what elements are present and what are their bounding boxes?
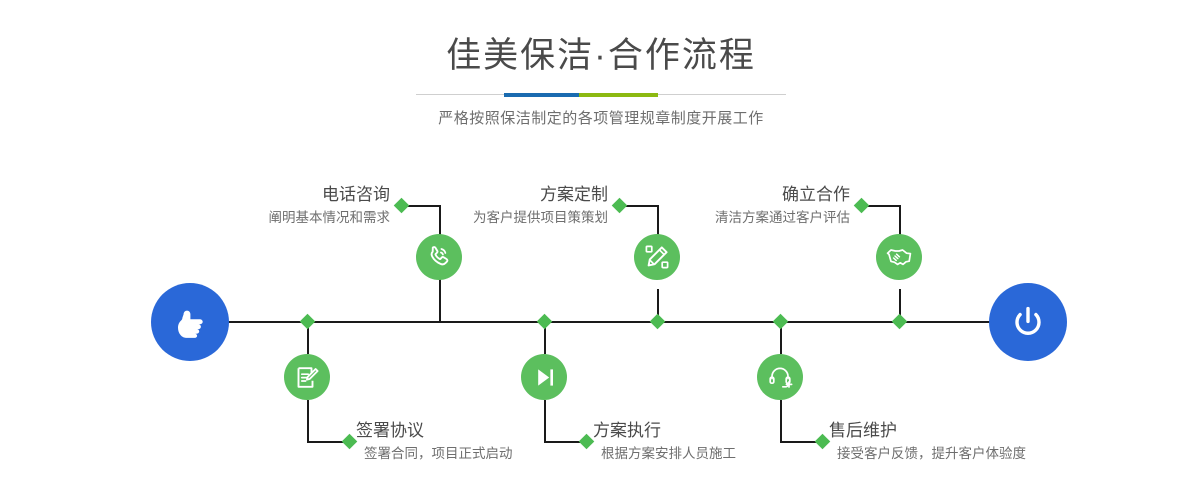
step-label-6: 售后维护 接受客户反馈，提升客户体验度	[829, 420, 1026, 464]
connector-marker-5	[854, 198, 870, 214]
title-divider	[416, 91, 786, 98]
power-icon	[1007, 301, 1049, 343]
step-subtitle-2: 签署合同，项目正式启动	[364, 444, 513, 464]
divider-segment-green	[579, 93, 658, 97]
step-title-6: 售后维护	[829, 420, 1026, 442]
phone-call-icon	[425, 243, 453, 271]
step-title-5: 确立合作	[572, 184, 850, 206]
step-subtitle-3: 为客户提供项目策策划	[330, 208, 608, 228]
connector-stem-1c	[439, 289, 441, 322]
connector-marker-2	[342, 434, 358, 450]
step-subtitle-4: 根据方案安排人员施工	[601, 444, 736, 464]
process-flow-infographic: 佳美保洁·合作流程 严格按照保洁制定的各项管理规章制度开展工作	[0, 0, 1202, 502]
step-title-4: 方案执行	[593, 420, 736, 442]
step-subtitle-6: 接受客户反馈，提升客户体验度	[837, 444, 1026, 464]
step-icon-4	[521, 354, 567, 400]
axis-marker-3	[650, 314, 666, 330]
flow-diagram: 电话咨询 阐明基本情况和需求	[0, 160, 1202, 502]
handshake-icon	[885, 243, 913, 271]
header: 佳美保洁·合作流程 严格按照保洁制定的各项管理规章制度开展工作	[0, 34, 1202, 130]
step-label-3: 方案定制 为客户提供项目策策划	[330, 184, 608, 228]
page-subtitle: 严格按照保洁制定的各项管理规章制度开展工作	[0, 108, 1202, 130]
step-title-2: 签署协议	[356, 420, 513, 442]
headset-support-icon	[767, 364, 794, 391]
axis-marker-6	[773, 314, 789, 330]
pointing-hand-icon	[169, 301, 211, 343]
connector-marker-6	[815, 434, 831, 450]
step-icon-3	[634, 234, 680, 280]
axis-marker-5	[892, 314, 908, 330]
page-title: 佳美保洁·合作流程	[0, 34, 1202, 78]
axis-marker-2	[300, 314, 316, 330]
divider-segment-blue	[504, 93, 579, 97]
step-label-5: 确立合作 清洁方案通过客户评估	[572, 184, 850, 228]
step-label-2: 签署协议 签署合同，项目正式启动	[356, 420, 513, 464]
step-icon-2	[284, 354, 330, 400]
step-subtitle-5: 清洁方案通过客户评估	[572, 208, 850, 228]
axis-marker-4	[537, 314, 553, 330]
step-title-3: 方案定制	[330, 184, 608, 206]
step-icon-6	[757, 354, 803, 400]
connector-marker-4	[579, 434, 595, 450]
connector-stem-6b	[780, 400, 782, 442]
start-node	[151, 283, 229, 361]
play-skip-icon	[531, 364, 558, 391]
pencil-ruler-icon	[643, 243, 671, 271]
connector-stem-4b	[544, 400, 546, 442]
step-icon-5	[876, 234, 922, 280]
document-edit-icon	[294, 364, 321, 391]
connector-stem-2b	[307, 400, 309, 442]
step-icon-1	[416, 234, 462, 280]
end-node	[989, 283, 1067, 361]
step-label-4: 方案执行 根据方案安排人员施工	[593, 420, 736, 464]
